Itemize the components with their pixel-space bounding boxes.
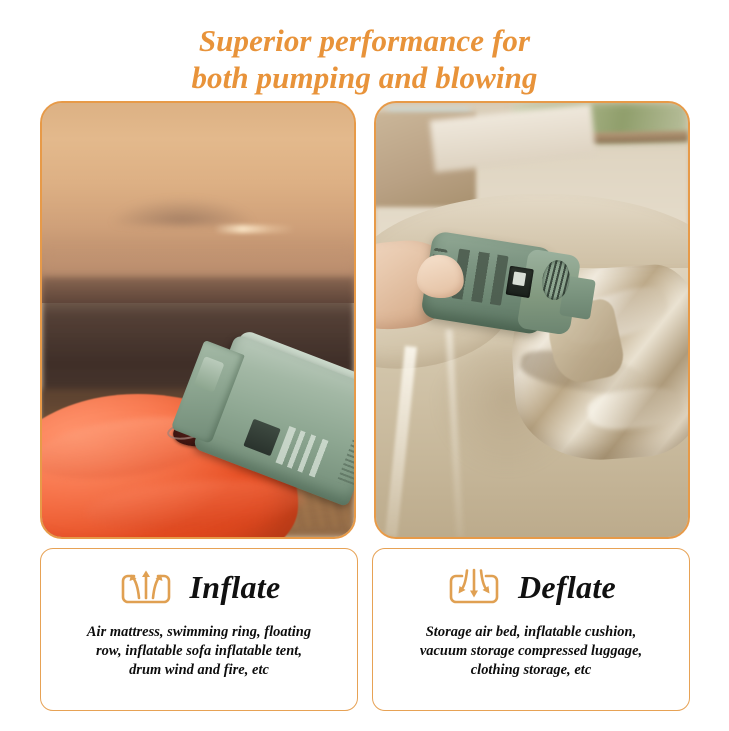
inflate-arrows-up-icon — [118, 564, 174, 610]
distant-lights — [214, 225, 295, 234]
panel-desc-line-1: Air mattress, swimming ring, floating — [53, 623, 345, 642]
panel-title-deflate: Deflate — [518, 571, 616, 603]
panel-desc-line-2: row, inflatable sofa inflatable tent, — [53, 642, 345, 661]
inflate-panel-header: Inflate — [41, 560, 357, 614]
panel-desc-line-1: Storage air bed, inflatable cushion, — [385, 623, 677, 642]
deflating-vacuum-bag-image — [376, 103, 688, 537]
page-title-line-1: Superior performance for — [0, 22, 729, 59]
pump-power-switch — [506, 265, 534, 298]
panel-description-deflate: Storage air bed, inflatable cushion, vac… — [385, 623, 677, 680]
feature-panel-deflate: Deflate Storage air bed, inflatable cush… — [372, 548, 690, 711]
panel-desc-line-2: vacuum storage compressed luggage, — [385, 642, 677, 661]
deflate-arrows-down-icon — [446, 564, 502, 610]
deflate-panel-header: Deflate — [373, 560, 689, 614]
panel-description-inflate: Air mattress, swimming ring, floating ro… — [53, 623, 345, 680]
panel-title-inflate: Inflate — [190, 571, 281, 603]
page-title: Superior performance for both pumping an… — [0, 22, 729, 96]
photo-card-deflating — [374, 101, 690, 539]
photo-gallery — [40, 101, 690, 539]
panel-desc-line-3: drum wind and fire, etc — [53, 661, 345, 680]
feature-panel-inflate: Inflate Air mattress, swimming ring, flo… — [40, 548, 358, 711]
infographic-page: Superior performance for both pumping an… — [0, 0, 729, 731]
distant-mountain — [111, 198, 255, 224]
feature-panels: Inflate Air mattress, swimming ring, flo… — [40, 548, 690, 711]
inflating-float-outdoors-image — [42, 103, 354, 537]
panel-desc-line-3: clothing storage, etc — [385, 661, 677, 680]
page-title-line-2: both pumping and blowing — [0, 59, 729, 96]
photo-card-inflating — [40, 101, 356, 539]
